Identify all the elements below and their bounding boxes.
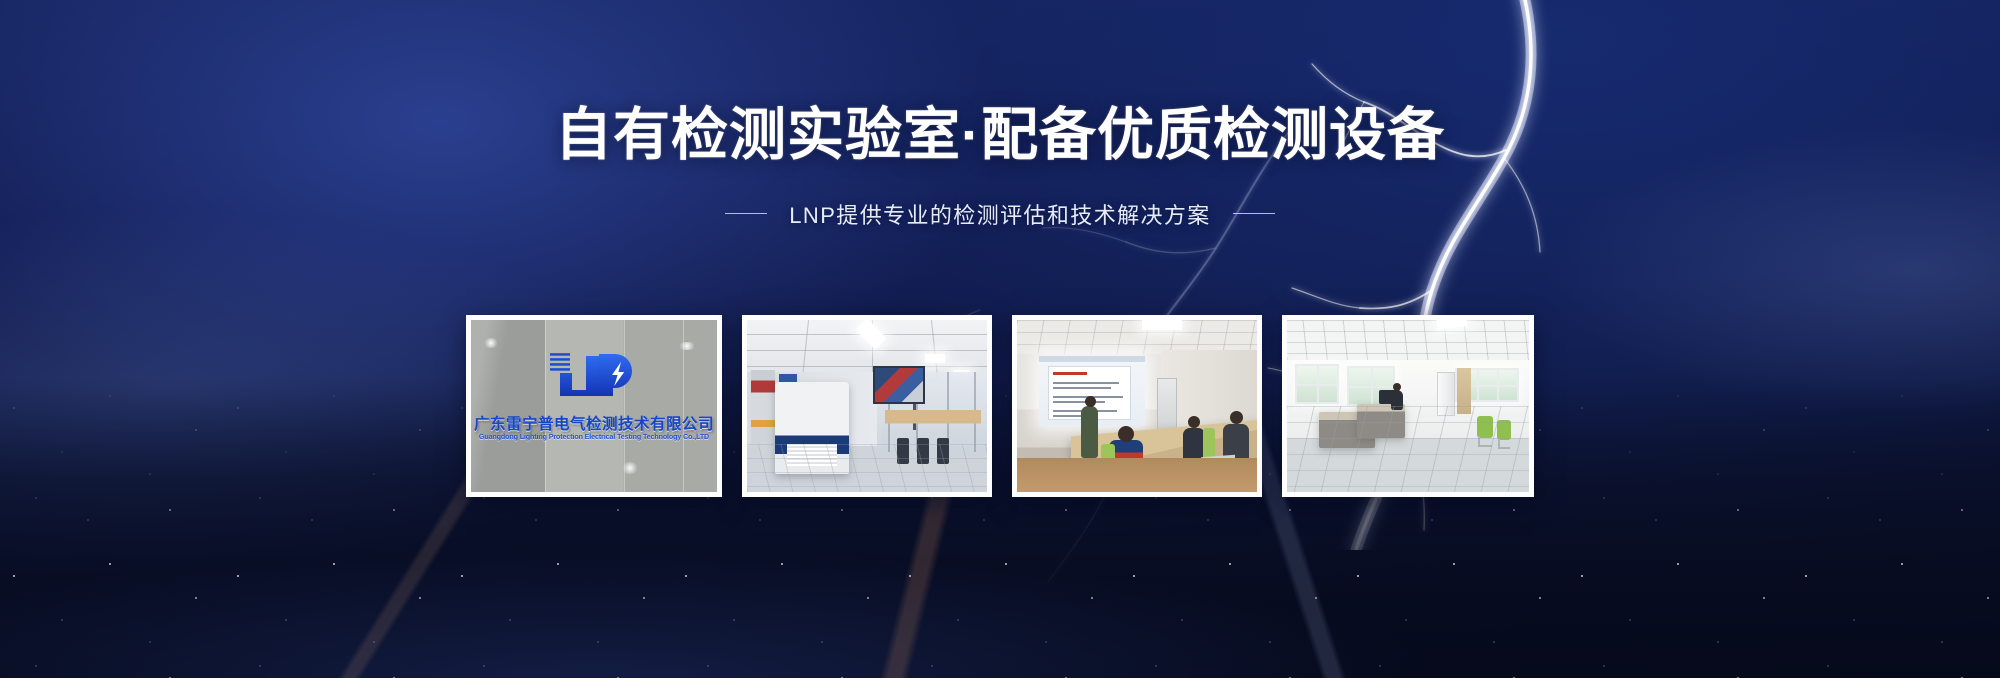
left-rule-icon [725,213,767,214]
photo-laboratory[interactable] [742,315,992,497]
company-sign-image: 广东雷宁普电气检测技术有限公司 Guangdong Lighting Prote… [471,320,717,492]
lab-floor [747,444,987,492]
photo-gallery: 广东雷宁普电气检测技术有限公司 Guangdong Lighting Prote… [466,315,1534,497]
person-standing [1081,406,1098,458]
sign-caption-cn: 广东雷宁普电气检测技术有限公司 [474,412,714,434]
office-ceiling [1287,320,1529,364]
subtitle-row: LNP提供专业的检测评估和技术解决方案 [0,198,2000,230]
lnp-logo-icon [542,346,646,402]
office-floor [1287,406,1529,492]
wall-monitor [873,366,925,404]
page-title: 自有检测实验室·配备优质检测设备 [0,104,2000,168]
photo-meeting-room[interactable] [1012,315,1262,497]
right-rule-icon [1233,213,1275,214]
hero-banner: 自有检测实验室·配备优质检测设备 LNP提供专业的检测评估和技术解决方案 [0,0,2000,678]
meeting-floor [1017,458,1257,492]
office-image [1287,320,1529,492]
meeting-room-image [1017,320,1257,492]
photo-company-sign[interactable]: 广东雷宁普电气检测技术有限公司 Guangdong Lighting Prote… [466,315,722,497]
ceiling-light [925,354,945,363]
photo-office[interactable] [1282,315,1534,497]
meeting-ceiling [1017,320,1257,354]
page-subtitle: LNP提供专业的检测评估和技术解决方案 [789,198,1210,230]
laboratory-image [747,320,987,492]
headline-block: 自有检测实验室·配备优质检测设备 LNP提供专业的检测评估和技术解决方案 [0,0,2000,230]
window [1295,364,1339,404]
sign-caption-en: Guangdong Lighting Protection Electrical… [479,433,709,441]
